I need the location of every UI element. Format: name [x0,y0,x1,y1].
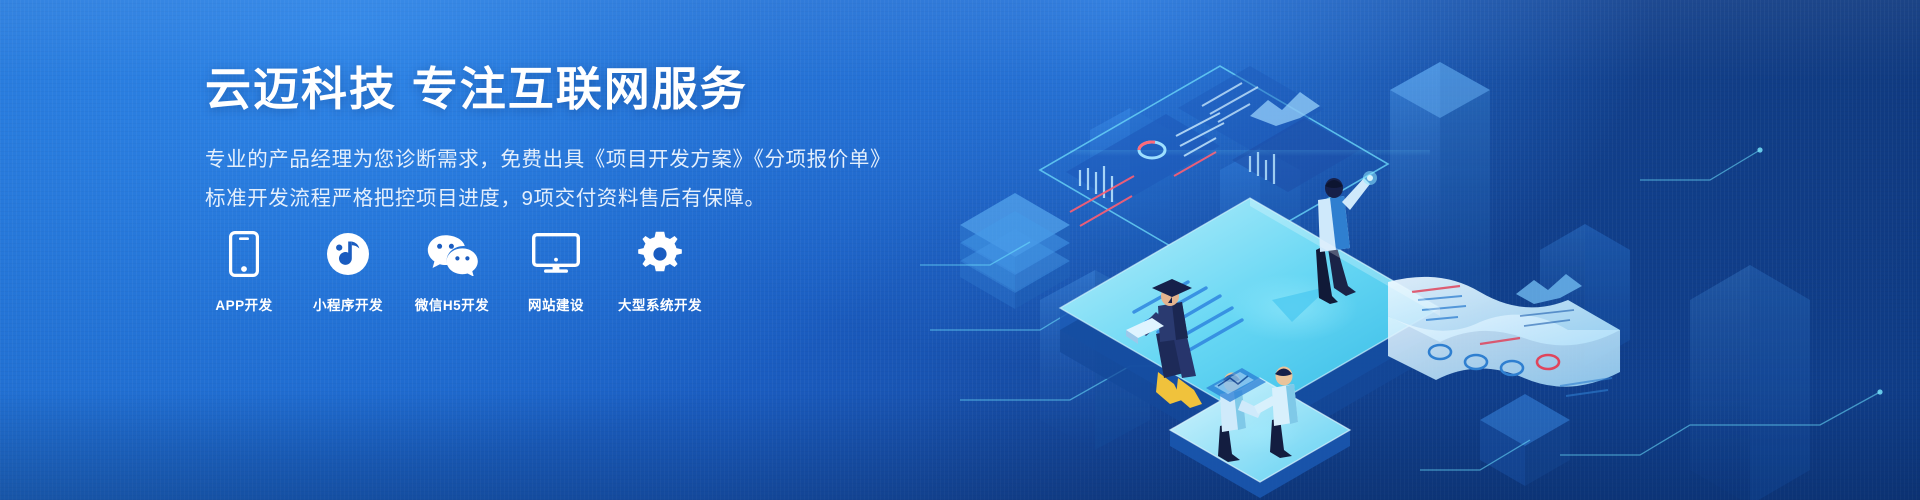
banner-copy: 云迈科技 专注互联网服务 专业的产品经理为您诊断需求，免费出具《项目开发方案》《… [205,62,925,217]
service-label: 大型系统开发 [618,294,702,314]
service-item-website[interactable]: 网站建设 [517,228,595,314]
illustration-artwork [920,0,1920,500]
subtitle-line-2: 标准开发流程严格把控项目进度，9项交付资料售后有保障。 [205,181,925,217]
wechat-icon [426,228,478,280]
service-item-large-system[interactable]: 大型系统开发 [621,228,699,314]
page-title: 云迈科技 专注互联网服务 [205,62,925,116]
service-item-miniprogram[interactable]: 小程序开发 [309,228,387,314]
service-label: APP开发 [215,294,272,314]
monitor-icon [532,228,580,280]
service-label: 小程序开发 [313,294,383,314]
service-item-app[interactable]: APP开发 [205,228,283,314]
subtitle-line-1: 专业的产品经理为您诊断需求，免费出具《项目开发方案》《分项报价单》 [205,142,925,178]
service-list: APP开发 小程序开发 [205,228,699,314]
service-label: 网站建设 [528,294,584,314]
gear-icon [637,228,683,280]
mini-program-icon [326,228,370,280]
service-label: 微信H5开发 [415,294,489,314]
service-item-wechat-h5[interactable]: 微信H5开发 [413,228,491,314]
hero-banner: 云迈科技 专注互联网服务 专业的产品经理为您诊断需求，免费出具《项目开发方案》《… [0,0,1920,500]
mobile-phone-icon [229,228,259,280]
